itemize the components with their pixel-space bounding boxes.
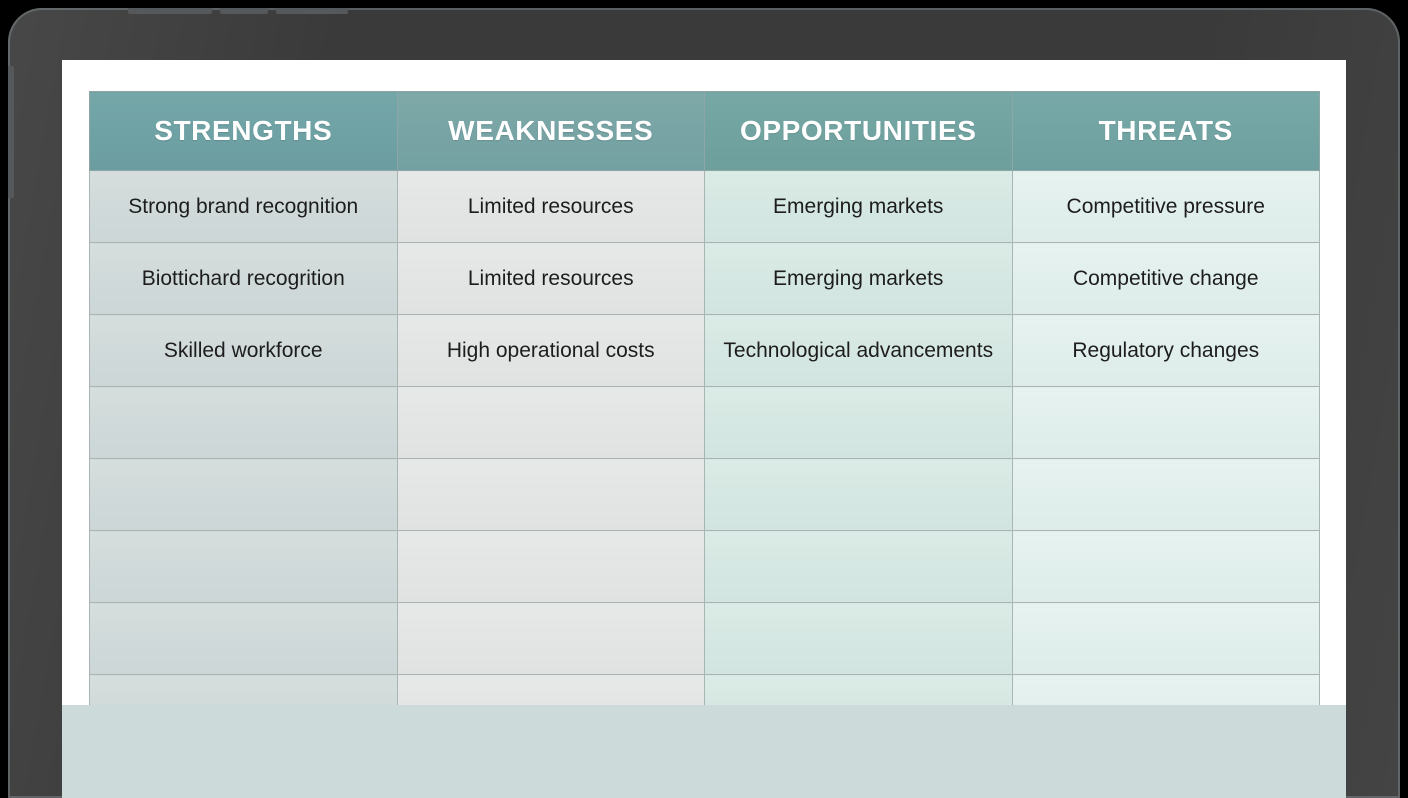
table-row [90, 603, 1320, 675]
cell-text: Technological advancements [705, 338, 1012, 363]
table-cell-weaknesses[interactable] [397, 531, 705, 603]
table-cell-strengths[interactable] [90, 387, 398, 459]
cell-text: Emerging markets [705, 266, 1012, 291]
table-cell-strengths[interactable] [90, 603, 398, 675]
tablet-screen: STRENGTHS WEAKNESSES OPPORTUNITIES THREA… [62, 60, 1346, 798]
table-cell-weaknesses[interactable] [397, 387, 705, 459]
table-cell-threats[interactable] [1012, 603, 1320, 675]
table-row [90, 387, 1320, 459]
table-cell-strengths[interactable]: Biottichard recogrition [90, 243, 398, 315]
cell-text: Competitive change [1013, 266, 1320, 291]
table-cell-weaknesses[interactable]: High operational costs [397, 315, 705, 387]
table-cell-opportunities[interactable]: Technological advancements [705, 315, 1013, 387]
column-header-strengths[interactable]: STRENGTHS [90, 92, 398, 171]
table-row: Skilled workforceHigh operational costsT… [90, 315, 1320, 387]
table-row: Strong brand recognitionLimited resource… [90, 171, 1320, 243]
table-cell-opportunities[interactable] [705, 459, 1013, 531]
table-cell-weaknesses[interactable]: Limited resources [397, 171, 705, 243]
cell-text: Biottichard recogrition [90, 266, 397, 291]
table-cell-strengths[interactable]: Skilled workforce [90, 315, 398, 387]
tablet-device-frame: STRENGTHS WEAKNESSES OPPORTUNITIES THREA… [8, 8, 1400, 798]
cell-text: Limited resources [398, 266, 705, 291]
table-cell-threats[interactable] [1012, 531, 1320, 603]
cell-text: Limited resources [398, 194, 705, 219]
table-cell-threats[interactable] [1012, 459, 1320, 531]
table-row [90, 459, 1320, 531]
table-cell-opportunities[interactable]: Emerging markets [705, 171, 1013, 243]
cell-text: Regulatory changes [1013, 338, 1320, 363]
table-cell-strengths[interactable]: Strong brand recognition [90, 171, 398, 243]
column-header-opportunities[interactable]: OPPORTUNITIES [705, 92, 1013, 171]
cell-text: Skilled workforce [90, 338, 397, 363]
table-cell-opportunities[interactable] [705, 387, 1013, 459]
table-header-row: STRENGTHS WEAKNESSES OPPORTUNITIES THREA… [90, 92, 1320, 171]
table-body: Strong brand recognitionLimited resource… [90, 171, 1320, 747]
column-header-label: THREATS [1099, 115, 1233, 146]
column-header-weaknesses[interactable]: WEAKNESSES [397, 92, 705, 171]
column-header-label: STRENGTHS [154, 115, 332, 146]
table-cell-weaknesses[interactable]: Limited resources [397, 243, 705, 315]
cell-text: High operational costs [398, 338, 705, 363]
cell-text: Emerging markets [705, 194, 1012, 219]
table-cell-opportunities[interactable]: Emerging markets [705, 243, 1013, 315]
table-cell-threats[interactable]: Competitive pressure [1012, 171, 1320, 243]
document-canvas: STRENGTHS WEAKNESSES OPPORTUNITIES THREA… [62, 60, 1346, 705]
footer-band [62, 705, 1346, 798]
hardware-button-top-middle[interactable] [220, 8, 268, 14]
hardware-button-top-left[interactable] [128, 8, 212, 14]
table-cell-threats[interactable]: Regulatory changes [1012, 315, 1320, 387]
cell-text: Competitive pressure [1013, 194, 1320, 219]
table-header: STRENGTHS WEAKNESSES OPPORTUNITIES THREA… [90, 92, 1320, 171]
column-header-label: WEAKNESSES [448, 115, 653, 146]
table-cell-opportunities[interactable] [705, 603, 1013, 675]
table-cell-weaknesses[interactable] [397, 459, 705, 531]
swot-analysis-table: STRENGTHS WEAKNESSES OPPORTUNITIES THREA… [89, 91, 1320, 747]
table-cell-opportunities[interactable] [705, 531, 1013, 603]
table-cell-weaknesses[interactable] [397, 603, 705, 675]
table-cell-strengths[interactable] [90, 459, 398, 531]
table-cell-strengths[interactable] [90, 531, 398, 603]
cell-text: Strong brand recognition [90, 194, 397, 219]
hardware-button-top-right[interactable] [276, 8, 348, 14]
column-header-label: OPPORTUNITIES [740, 115, 977, 146]
hardware-button-side-left[interactable] [8, 66, 14, 198]
table-cell-threats[interactable]: Competitive change [1012, 243, 1320, 315]
table-cell-threats[interactable] [1012, 387, 1320, 459]
column-header-threats[interactable]: THREATS [1012, 92, 1320, 171]
table-row [90, 531, 1320, 603]
table-row: Biottichard recogritionLimited resources… [90, 243, 1320, 315]
